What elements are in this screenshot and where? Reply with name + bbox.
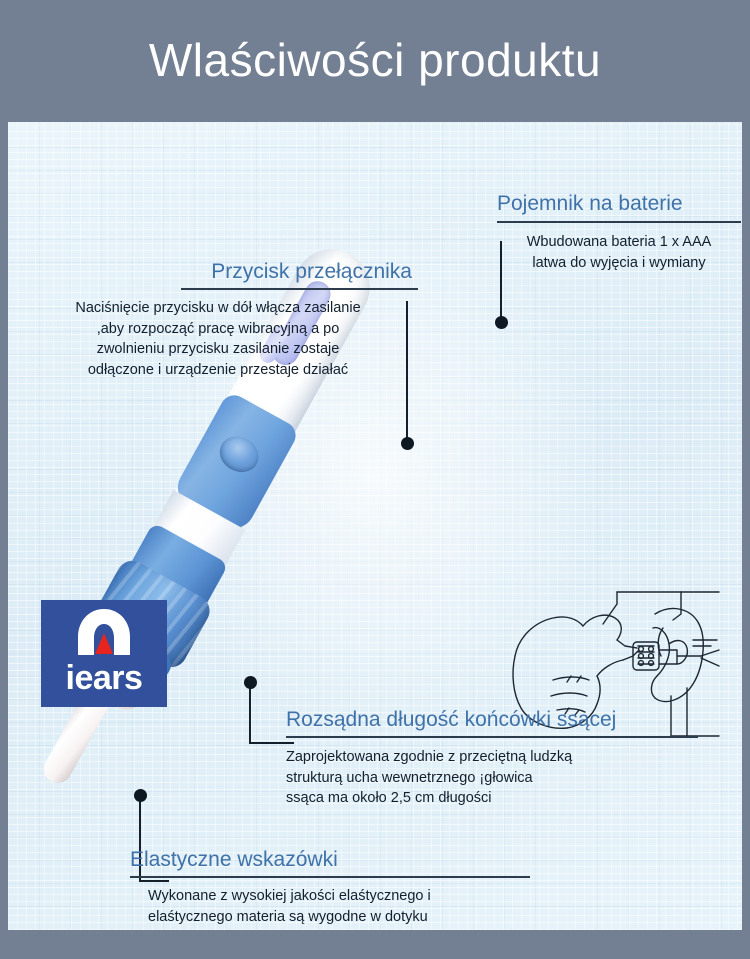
- callout-suction-length: Rozsądna długość końcówki ssącej Zaproje…: [286, 708, 698, 809]
- brand-logo: iears: [41, 600, 167, 707]
- callout-battery-heading: Pojemnik na baterie: [497, 192, 741, 215]
- page-title: Wlaściwości produktu: [149, 37, 601, 83]
- device-blue-section: [127, 522, 228, 611]
- callout-dot-suction: [244, 676, 257, 689]
- callout-switch-heading: Przycisk przełącznika: [18, 260, 418, 283]
- callout-suction-rule: [286, 736, 698, 738]
- callout-switch-button: Przycisk przełącznika Naciśnięcie przyci…: [18, 260, 418, 380]
- omega-arch-icon: [73, 607, 135, 659]
- callout-dot-switch: [401, 437, 414, 450]
- callout-elastic-body: Wykonane z wysokiej jakości elaśtycznego…: [130, 886, 530, 927]
- callout-elastic-rule: [130, 876, 530, 878]
- callout-suction-heading: Rozsądna długość końcówki ssącej: [286, 708, 698, 731]
- callout-switch-rule: [181, 288, 418, 290]
- page-header: Wlaściwości produktu: [0, 0, 750, 120]
- callout-battery-rule: [497, 221, 741, 223]
- callout-switch-body: Naciśnięcie przycisku w dół włącza zasil…: [18, 298, 418, 380]
- callout-elastic-tips: Elastyczne wskazówki Wykonane z wysokiej…: [130, 848, 530, 927]
- brand-name: iears: [66, 661, 143, 695]
- callout-battery-container: Pojemnik na baterie Wbudowana bateria 1 …: [497, 192, 741, 273]
- device-white-band: [151, 490, 245, 570]
- red-triangle-icon: [95, 633, 113, 654]
- callout-dot-elastic: [134, 789, 147, 802]
- leader-line-suction-v: [249, 682, 251, 744]
- callout-dot-battery: [495, 316, 508, 329]
- infographic-page: Wlaściwości produktu: [0, 0, 750, 959]
- callout-suction-body: Zaprojektowana zgodnie z przeciętną ludz…: [286, 747, 698, 809]
- device-power-button: [213, 430, 264, 479]
- callout-battery-body: Wbudowana bateria 1 x AAA latwa do wyjęc…: [497, 232, 741, 273]
- callout-elastic-heading: Elastyczne wskazówki: [130, 848, 530, 871]
- device-grip: [171, 390, 301, 535]
